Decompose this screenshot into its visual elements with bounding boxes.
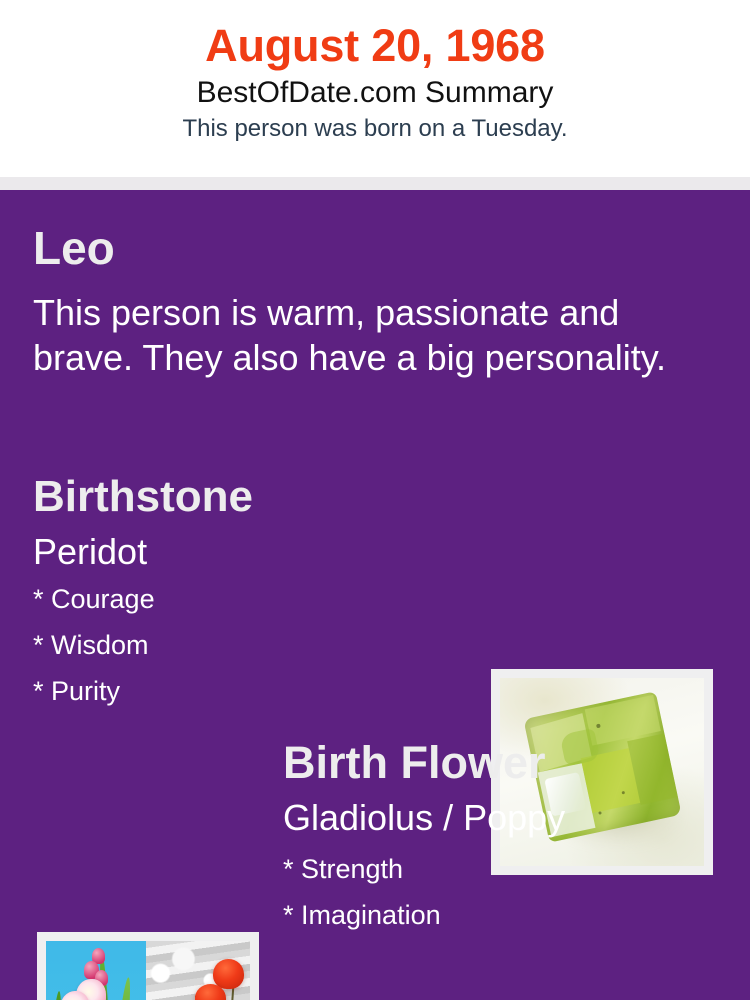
poppy-photo-pane	[146, 941, 250, 1000]
page-title: August 20, 1968	[0, 22, 750, 69]
birth-flower-image-inner	[46, 941, 250, 1000]
list-item: * Wisdom	[33, 632, 155, 659]
zodiac-description: This person is warm, passionate and brav…	[33, 290, 683, 381]
summary-card: August 20, 1968 BestOfDate.com Summary T…	[0, 0, 750, 1000]
birth-flower-title: Birth Flower	[283, 740, 546, 785]
list-item: * Courage	[33, 586, 155, 613]
gem-inclusion	[598, 811, 602, 815]
birthstone-title: Birthstone	[33, 475, 253, 519]
header-divider	[0, 177, 750, 190]
list-item: * Imagination	[283, 902, 441, 929]
birthstone-trait-list: * Courage * Wisdom * Purity	[33, 586, 155, 724]
birth-flower-name: Gladiolus / Poppy	[283, 800, 565, 836]
details-panel: Leo This person is warm, passionate and …	[0, 190, 750, 1000]
birth-day-note: This person was born on a Tuesday.	[0, 115, 750, 144]
card-header: August 20, 1968 BestOfDate.com Summary T…	[0, 0, 750, 177]
flower-split-layout	[46, 941, 250, 1000]
list-item: * Purity	[33, 678, 155, 705]
zodiac-sign-name: Leo	[33, 225, 115, 271]
birth-flower-image	[37, 932, 259, 1000]
birthstone-name: Peridot	[33, 534, 147, 570]
list-item: * Strength	[283, 856, 441, 883]
birth-flower-trait-list: * Strength * Imagination	[283, 856, 441, 948]
site-subtitle: BestOfDate.com Summary	[0, 75, 750, 111]
gladiolus-photo-pane	[46, 941, 146, 1000]
